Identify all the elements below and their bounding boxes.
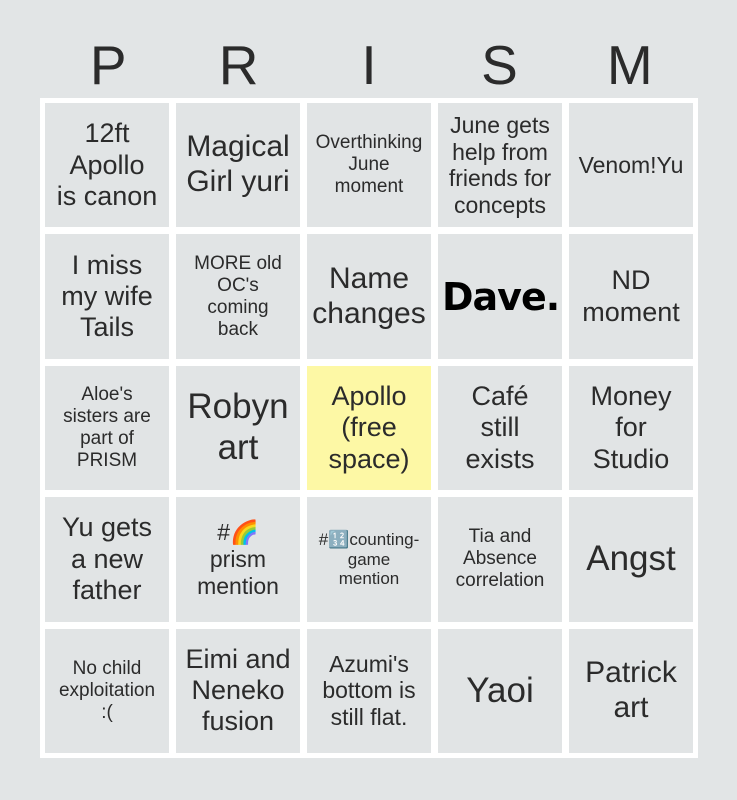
- header-letter-p: P: [43, 34, 173, 96]
- header-letter-i: I: [304, 34, 434, 96]
- bingo-grid: 12ft Apollo is canonMagical Girl yuriOve…: [40, 98, 698, 758]
- bingo-card: P R I S M 12ft Apollo is canonMagical Gi…: [0, 0, 737, 800]
- bingo-cell-label: Tia and Absence correlation: [442, 526, 558, 592]
- header-letter-m: M: [565, 34, 695, 96]
- bingo-cell[interactable]: Overthinking June moment: [307, 103, 431, 227]
- bingo-cell[interactable]: ND moment: [569, 234, 693, 358]
- bingo-cell-label: I miss my wife Tails: [49, 250, 165, 344]
- bingo-cell[interactable]: Angst: [569, 497, 693, 621]
- bingo-cell-label: Café still exists: [442, 381, 558, 475]
- bingo-cell-label: Robyn art: [180, 387, 296, 468]
- bingo-cell-label: Venom!Yu: [573, 152, 689, 179]
- bingo-cell-label: Dave.: [442, 275, 558, 319]
- bingo-cell-label: Yaoi: [442, 671, 558, 712]
- bingo-cell-label: ND moment: [573, 265, 689, 328]
- header-letter-s: S: [434, 34, 564, 96]
- bingo-cell-label: No child exploitation :(: [49, 658, 165, 724]
- bingo-cell[interactable]: June gets help from friends for concepts: [438, 103, 562, 227]
- bingo-cell[interactable]: Patrick art: [569, 629, 693, 753]
- bingo-cell-free-space[interactable]: Apollo (free space): [307, 366, 431, 490]
- bingo-cell-label: Azumi's bottom is still flat.: [311, 651, 427, 731]
- bingo-cell-label: Overthinking June moment: [311, 132, 427, 198]
- bingo-cell-label: Aloe's sisters are part of PRISM: [49, 384, 165, 472]
- bingo-cell[interactable]: Dave.: [438, 234, 562, 358]
- bingo-cell[interactable]: Yu gets a new father: [45, 497, 169, 621]
- bingo-cell[interactable]: Aloe's sisters are part of PRISM: [45, 366, 169, 490]
- bingo-cell-label: MORE old OC's coming back: [180, 253, 296, 341]
- bingo-cell[interactable]: Eimi and Neneko fusion: [176, 629, 300, 753]
- bingo-cell-label: #🌈 prism mention: [180, 519, 296, 599]
- bingo-cell[interactable]: No child exploitation :(: [45, 629, 169, 753]
- bingo-cell[interactable]: Money for Studio: [569, 366, 693, 490]
- bingo-cell[interactable]: Robyn art: [176, 366, 300, 490]
- bingo-cell-label: Money for Studio: [573, 381, 689, 475]
- bingo-cell[interactable]: Tia and Absence correlation: [438, 497, 562, 621]
- bingo-cell[interactable]: 12ft Apollo is canon: [45, 103, 169, 227]
- bingo-cell[interactable]: MORE old OC's coming back: [176, 234, 300, 358]
- bingo-cell-label: June gets help from friends for concepts: [442, 112, 558, 219]
- bingo-cell[interactable]: #🔢counting- game mention: [307, 497, 431, 621]
- bingo-cell-label: 12ft Apollo is canon: [49, 118, 165, 212]
- bingo-cell-label: Yu gets a new father: [49, 512, 165, 606]
- bingo-cell[interactable]: Magical Girl yuri: [176, 103, 300, 227]
- bingo-cell[interactable]: Yaoi: [438, 629, 562, 753]
- bingo-cell-label: Apollo (free space): [311, 381, 427, 475]
- bingo-cell[interactable]: Venom!Yu: [569, 103, 693, 227]
- bingo-cell[interactable]: Name changes: [307, 234, 431, 358]
- bingo-cell-label: Patrick art: [573, 656, 689, 726]
- bingo-cell[interactable]: #🌈 prism mention: [176, 497, 300, 621]
- bingo-cell-label: Angst: [573, 539, 689, 580]
- bingo-cell-label: #🔢counting- game mention: [311, 530, 427, 589]
- bingo-cell[interactable]: Café still exists: [438, 366, 562, 490]
- bingo-cell-label: Magical Girl yuri: [180, 130, 296, 200]
- header-letter-r: R: [173, 34, 303, 96]
- bingo-cell-label: Name changes: [311, 262, 427, 332]
- bingo-cell[interactable]: Azumi's bottom is still flat.: [307, 629, 431, 753]
- bingo-cell-label: Eimi and Neneko fusion: [180, 644, 296, 738]
- bingo-header: P R I S M: [43, 34, 695, 96]
- bingo-cell[interactable]: I miss my wife Tails: [45, 234, 169, 358]
